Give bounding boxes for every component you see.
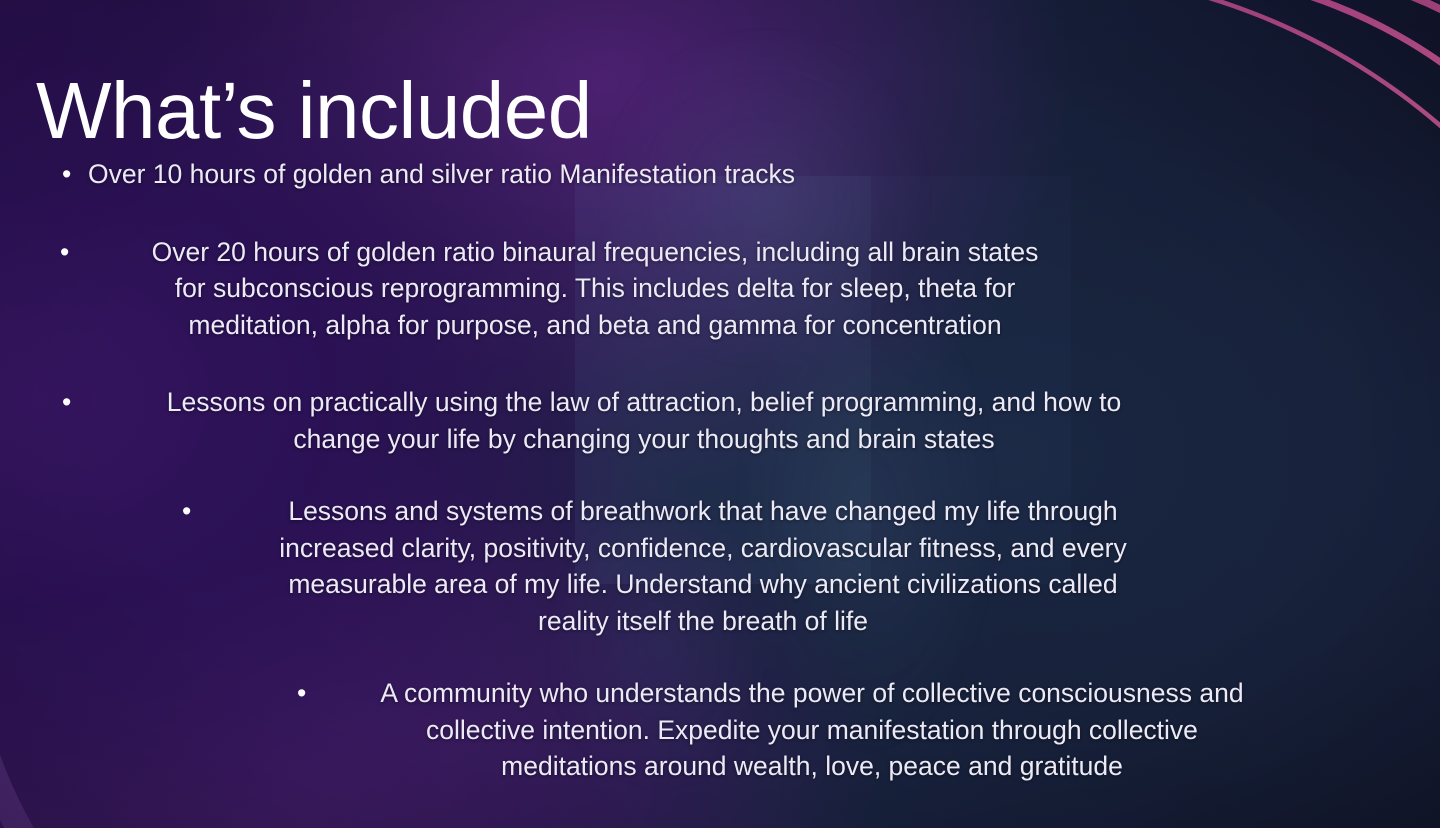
list-item: • A community who understands the power … — [297, 675, 1440, 785]
list-item: • Lessons on practically using the law o… — [62, 384, 1440, 457]
list-item-text: Over 10 hours of golden and silver ratio… — [88, 156, 878, 193]
list-item-text: Lessons on practically using the law of … — [110, 384, 1178, 457]
bullet-marker-icon: • — [62, 384, 72, 421]
page-title: What’s included — [36, 66, 592, 156]
list-item-text: Lessons and systems of breathwork that h… — [228, 493, 1178, 639]
list-item: • Over 20 hours of golden ratio binaural… — [60, 234, 1440, 344]
list-item-text: Over 20 hours of golden ratio binaural f… — [100, 234, 1090, 344]
list-item-text: A community who understands the power of… — [327, 675, 1297, 785]
bullet-marker-icon: • — [297, 675, 307, 712]
feature-list: • Over 10 hours of golden and silver rat… — [0, 156, 1440, 785]
bullet-marker-icon: • — [62, 156, 72, 193]
presentation-slide: What’s included • Over 10 hours of golde… — [0, 0, 1440, 828]
list-item: • Lessons and systems of breathwork that… — [182, 493, 1440, 639]
list-item: • Over 10 hours of golden and silver rat… — [62, 156, 1440, 193]
bullet-marker-icon: • — [182, 493, 192, 530]
bullet-marker-icon: • — [60, 234, 70, 271]
